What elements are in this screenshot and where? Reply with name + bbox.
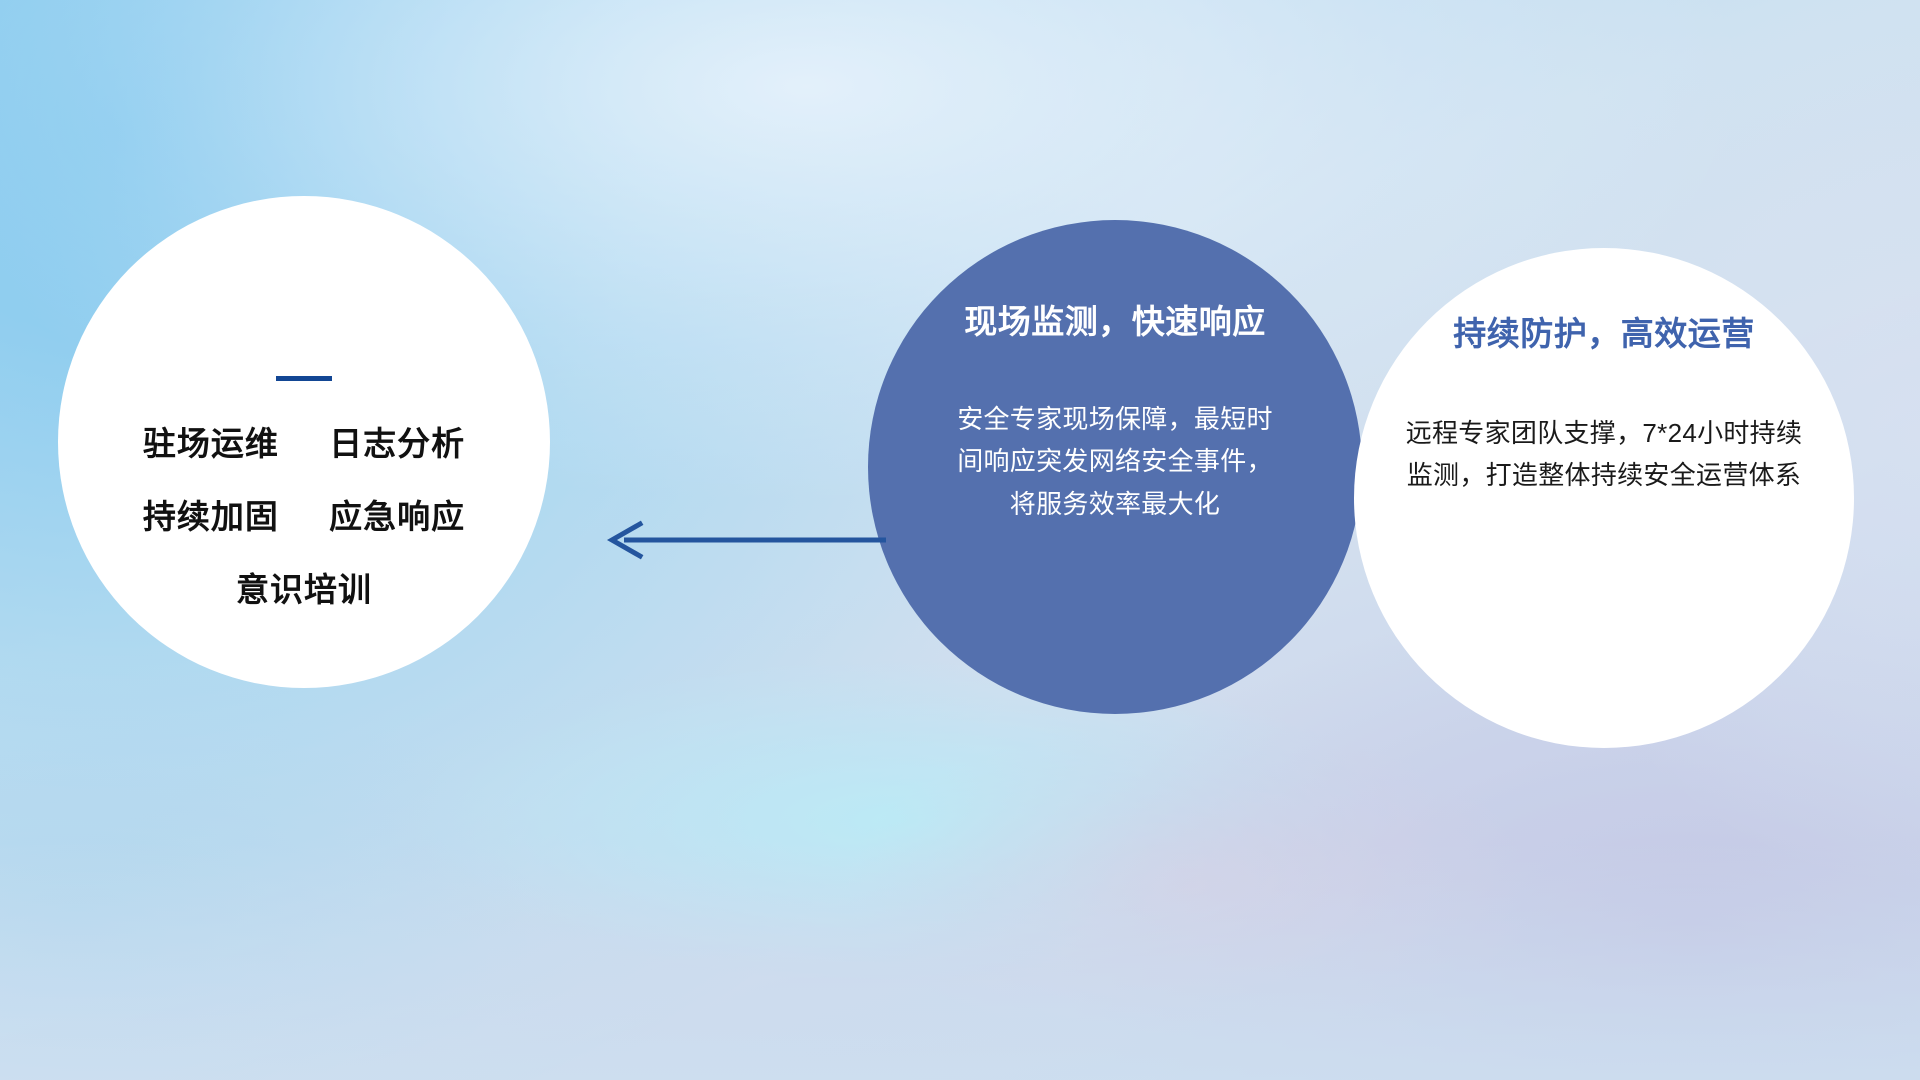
capability-row-2: 持续加固 应急响应 bbox=[143, 500, 465, 533]
onsite-monitoring-body: 安全专家现场保障，最短时间响应突发网络安全事件，将服务效率最大化 bbox=[950, 398, 1280, 524]
continuous-protection-circle[interactable]: 持续防护，高效运营 远程专家团队支撑，7*24小时持续监测，打造整体持续安全运营… bbox=[1354, 248, 1854, 748]
divider-dash-icon bbox=[276, 376, 332, 381]
service-capability-circle[interactable]: 驻场运维 日志分析 持续加固 应急响应 意识培训 bbox=[58, 196, 550, 688]
service-capability-content: 驻场运维 日志分析 持续加固 应急响应 意识培训 bbox=[58, 196, 550, 688]
capability-label-emergency-response: 应急响应 bbox=[329, 498, 465, 535]
capability-label-onsite-ops: 驻场运维 bbox=[143, 425, 279, 462]
capability-label-awareness-training: 意识培训 bbox=[236, 571, 372, 608]
continuous-protection-title: 持续防护，高效运营 bbox=[1453, 316, 1755, 352]
capability-row-3: 意识培训 bbox=[236, 573, 372, 606]
onsite-monitoring-content: 现场监测，快速响应 安全专家现场保障，最短时间响应突发网络安全事件，将服务效率最… bbox=[868, 220, 1362, 714]
capability-row-1: 驻场运维 日志分析 bbox=[143, 427, 465, 460]
capability-label-continuous-hardening: 持续加固 bbox=[143, 498, 279, 535]
onsite-monitoring-title: 现场监测，快速响应 bbox=[964, 304, 1266, 340]
slide-canvas: 现场监测，快速响应 安全专家现场保障，最短时间响应突发网络安全事件，将服务效率最… bbox=[0, 0, 1920, 1080]
onsite-monitoring-circle[interactable]: 现场监测，快速响应 安全专家现场保障，最短时间响应突发网络安全事件，将服务效率最… bbox=[868, 220, 1362, 714]
continuous-protection-content: 持续防护，高效运营 远程专家团队支撑，7*24小时持续监测，打造整体持续安全运营… bbox=[1354, 248, 1854, 748]
arrow-left-icon bbox=[596, 518, 886, 562]
continuous-protection-body: 远程专家团队支撑，7*24小时持续监测，打造整体持续安全运营体系 bbox=[1399, 412, 1809, 496]
capability-label-log-analysis: 日志分析 bbox=[329, 425, 465, 462]
